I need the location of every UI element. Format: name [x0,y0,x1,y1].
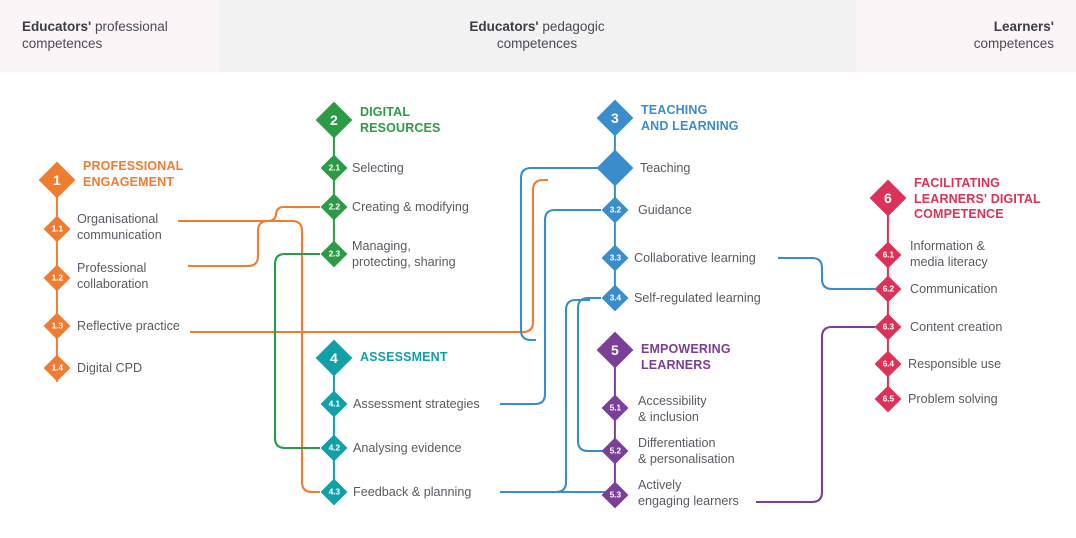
area-1-node-1-4-label: Digital CPD [77,360,142,376]
area-4-node-4-1-label: Assessment strategies [353,396,480,412]
area-2-node-2-2-label: Creating & modifying [352,199,469,215]
area-3-number: 3 [611,111,619,125]
conn-3-4-to-5-2 [578,298,612,451]
area-3-node-teaching-label: Teaching [640,160,690,176]
area-6-title: FACILITATING LEARNERS' DIGITAL COMPETENC… [914,176,1041,223]
node-number: 2.2 [328,203,339,212]
area-2-node-2-1-label: Selecting [352,160,404,176]
node-number: 1.2 [51,274,62,283]
area-4-title: ASSESSMENT [360,350,448,366]
area-3-title: TEACHING AND LEARNING [641,103,739,134]
area-6-node-6-4-label: Responsible use [908,356,1001,372]
node-number: 6.1 [882,251,893,260]
node-number: 6.4 [882,360,893,369]
area-1-node-1-3-label: Reflective practice [77,318,180,334]
area-1-number: 1 [53,173,61,187]
node-number: 4.3 [328,488,339,497]
node-number: 1.3 [51,322,62,331]
spine-area-4 [333,358,335,492]
area-3-node-3-2-label: Guidance [638,202,692,218]
area-2-title: DIGITAL RESOURCES [360,105,441,136]
node-number: 5.1 [609,404,620,413]
node-number: 5.2 [609,447,620,456]
area-5-number: 5 [611,343,619,357]
node-number: 3.4 [609,294,620,303]
area-3-node-3-4-label: Self-regulated learning [634,290,761,306]
node-number: 6.2 [882,285,893,294]
node-number: 5.3 [609,491,620,500]
area-6-node-6-2-label: Communication [910,281,998,297]
node-number: 4.1 [328,400,339,409]
area-5-node-5-3-label: Actively engaging learners [638,477,739,509]
area-6-node-6-5-label: Problem solving [908,391,998,407]
area-2-node-2-3-label: Managing, protecting, sharing [352,238,456,270]
area-1-title: PROFESSIONAL ENGAGEMENT [83,159,183,190]
area-4-node-4-2-label: Analysing evidence [353,440,462,456]
node-number: 2.1 [328,164,339,173]
node-number: 6.3 [882,323,893,332]
area-6-number: 6 [884,191,892,205]
node-number: 1.4 [51,364,62,373]
conn-2-3-to-4-2 [275,254,320,448]
spine-area-2 [333,120,335,254]
area-1-node-1-1-label: Organisational communication [77,211,162,243]
area-6-node-6-1-label: Information & media literacy [910,238,988,270]
node-number: 2.3 [328,250,339,259]
spine-area-5 [614,350,616,502]
node-number: 4.2 [328,444,339,453]
node-number: 1.1 [51,225,62,234]
conn-1-1-to-2-2 [178,207,320,221]
conn-1-x-to-4-3 [302,255,320,492]
area-1-node-1-2-label: Professional collaboration [77,260,148,292]
area-5-node-5-2-label: Differentiation & personalisation [638,435,735,467]
node-number: 6.5 [882,395,893,404]
conn-3-2-to-4-1 [500,210,601,404]
conn-1-2-to-2-3 [188,221,302,266]
node-number: 3.3 [609,254,620,263]
area-4-node-4-3-label: Feedback & planning [353,484,471,500]
area-6-node-6-3-label: Content creation [910,319,1002,335]
conn-3-3-to-6-2 [778,258,875,289]
node-number: 3.2 [609,206,620,215]
digcompedu-framework-diagram: Educators' professional competences Educ… [0,0,1076,538]
area-3-node-3-3-label: Collaborative learning [634,250,756,266]
area-5-node-5-1-label: Accessibility & inclusion [638,393,707,425]
area-2-number: 2 [330,113,338,127]
area-4-number: 4 [330,351,338,365]
area-5-title: EMPOWERING LEARNERS [641,342,731,373]
conn-5-3-to-6-3 [756,327,875,502]
